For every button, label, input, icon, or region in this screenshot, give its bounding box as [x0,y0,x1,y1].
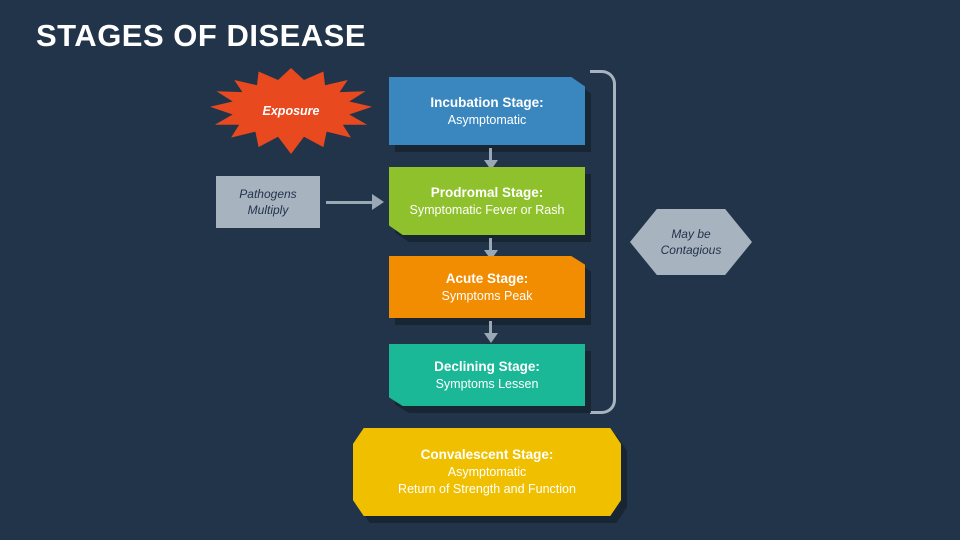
contagious-bracket [590,70,616,414]
contagious-line-1: May be [671,226,710,242]
stage-subtitle: Symptoms Peak [441,288,532,305]
stage-acute: Acute Stage: Symptoms Peak [389,256,585,318]
contagious-callout: May be Contagious [630,209,752,275]
stage-title: Incubation Stage: [430,94,543,112]
slide-canvas: STAGES OF DISEASE Exposure Pathogens Mul… [0,0,960,540]
stage-declining: Declining Stage: Symptoms Lessen [389,344,585,406]
stage-title: Convalescent Stage: [421,446,554,464]
stage-body: Incubation Stage: Asymptomatic [389,77,585,145]
stage-convalescent: Convalescent Stage: Asymptomatic Return … [353,428,621,516]
exposure-label: Exposure [210,68,372,154]
stage-subtitle: Symptoms Lessen [436,376,539,393]
stage-body: Prodromal Stage: Symptomatic Fever or Ra… [389,167,585,235]
stage-body: Declining Stage: Symptoms Lessen [389,344,585,406]
stage-body: Convalescent Stage: Asymptomatic Return … [353,428,621,516]
pathogens-line-2: Multiply [248,202,289,218]
contagious-label: May be Contagious [630,209,752,275]
stage-title: Declining Stage: [434,358,540,376]
pathogens-arrow-icon [326,194,386,210]
stage-prodromal: Prodromal Stage: Symptomatic Fever or Ra… [389,167,585,235]
stage-subtitle: Asymptomatic [448,112,527,129]
flow-arrow-3-icon [484,321,498,343]
stage-title: Acute Stage: [446,270,529,288]
pathogens-line-1: Pathogens [239,186,296,202]
pathogens-multiply-box: Pathogens Multiply [216,176,320,228]
stage-subtitle: Symptomatic Fever or Rash [410,202,565,219]
stage-subtitle-2: Return of Strength and Function [398,481,576,498]
stage-subtitle: Asymptomatic [448,464,527,481]
contagious-line-2: Contagious [661,242,722,258]
stage-incubation: Incubation Stage: Asymptomatic [389,77,585,145]
stage-body: Acute Stage: Symptoms Peak [389,256,585,318]
stage-title: Prodromal Stage: [431,184,544,202]
exposure-callout: Exposure [210,68,372,154]
page-title: STAGES OF DISEASE [36,18,366,54]
